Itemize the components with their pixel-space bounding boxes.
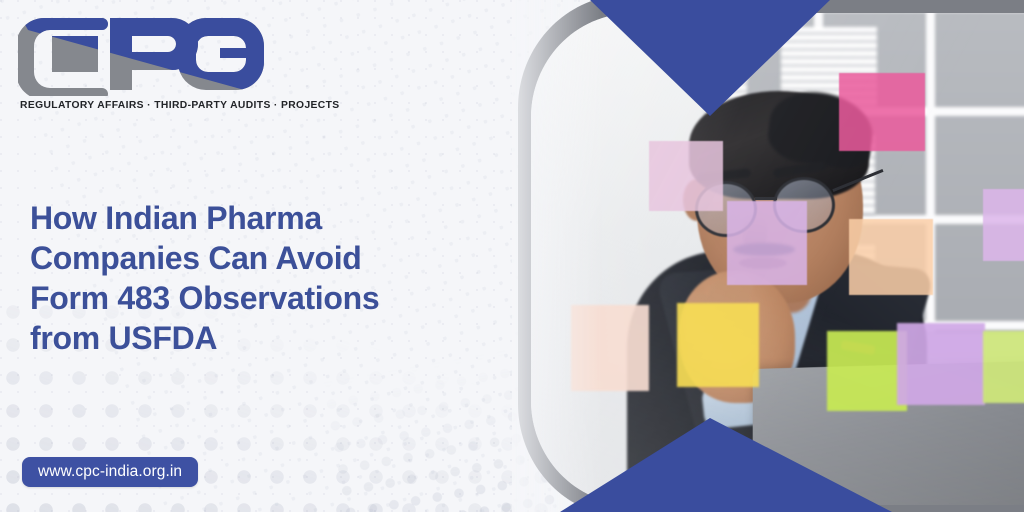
sticky-note — [677, 303, 759, 387]
photo-clip-region — [531, 13, 1024, 505]
cpc-logo-icon — [18, 12, 266, 96]
sticky-note — [983, 331, 1024, 403]
headline-line-2: Companies Can Avoid — [30, 238, 500, 278]
banner-root: REGULATORY AFFAIRS · THIRD-PARTY AUDITS … — [0, 0, 1024, 512]
website-url-badge[interactable]: www.cpc-india.org.in — [22, 457, 198, 487]
sticky-note — [839, 73, 925, 151]
sticky-note — [983, 189, 1024, 261]
glasses-bridge — [755, 197, 777, 200]
office-scene — [531, 13, 1024, 505]
brand-tagline: REGULATORY AFFAIRS · THIRD-PARTY AUDITS … — [20, 100, 340, 111]
sticky-note — [649, 141, 723, 211]
sticky-note — [827, 331, 907, 411]
cpc-logo-mark — [18, 12, 266, 96]
sticky-note — [849, 219, 933, 295]
headline-line-3: Form 483 Observations — [30, 278, 500, 318]
headline-line-4: from USFDA — [30, 318, 500, 358]
sticky-note — [897, 323, 985, 405]
sticky-note — [727, 201, 807, 285]
hero-photo — [512, 0, 1024, 512]
headline-line-1: How Indian Pharma — [30, 198, 500, 238]
page-title: How Indian Pharma Companies Can Avoid Fo… — [30, 198, 500, 358]
brand-logo[interactable]: REGULATORY AFFAIRS · THIRD-PARTY AUDITS … — [18, 12, 280, 122]
sticky-note — [571, 305, 649, 391]
